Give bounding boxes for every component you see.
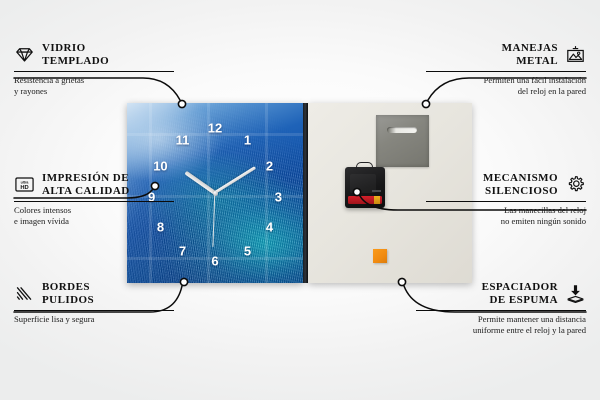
clock-numeral-11: 11 <box>176 133 190 146</box>
clock-second-hand <box>212 193 215 247</box>
polished-edges-icon <box>14 283 35 304</box>
feature-title-line2: SILENCIOSO <box>485 185 558 197</box>
feature-title-line2: DE ESPUMA <box>489 294 558 306</box>
feature-title-line2: TEMPLADO <box>42 55 109 67</box>
feature-desc-line2: e imagen vívida <box>14 216 69 226</box>
svg-text:HD: HD <box>20 186 28 192</box>
feature-divider <box>14 201 174 202</box>
clock-numeral-10: 10 <box>153 160 167 173</box>
clock-numeral-6: 6 <box>211 255 218 268</box>
feature-title-line2: ALTA CALIDAD <box>42 185 130 197</box>
spacer-arrow-icon <box>565 283 586 304</box>
clock-numeral-1: 1 <box>244 133 251 146</box>
feature-title-line1: ESPACIADOR <box>482 281 558 293</box>
clock-minute-hand <box>214 166 257 194</box>
feature-desc-line2: uniforme entre el reloj y la pared <box>473 325 586 335</box>
feature-desc-line1: Permite mantener una distancia <box>478 314 586 324</box>
infographic-canvas: 12 1 2 3 4 5 6 7 8 9 10 11 <box>0 0 600 400</box>
feature-impresion-alta-calidad: ultra HD IMPRESIÓN DE ALTA CALIDAD Color… <box>14 172 174 227</box>
feature-title-line1: VIDRIO <box>42 42 86 54</box>
clock-numeral-3: 3 <box>275 190 282 203</box>
feature-desc-line1: Permiten una fácil instalación <box>484 75 586 85</box>
clock-numeral-7: 7 <box>179 244 186 257</box>
feature-desc-line1: Resistencia a grietas <box>14 75 84 85</box>
feature-title-line2: METAL <box>516 55 558 67</box>
feature-desc-line2: del reloj en la pared <box>518 86 586 96</box>
feature-title-line1: MANEJAS <box>502 42 558 54</box>
metal-hanger <box>376 115 429 167</box>
feature-title-line1: MECANISMO <box>483 172 558 184</box>
feature-divider <box>426 71 586 72</box>
clock-hour-hand <box>184 171 216 195</box>
feature-desc-line2: no emiten ningún sonido <box>501 216 586 226</box>
mechanism-hook <box>356 162 373 169</box>
clock-numeral-4: 4 <box>266 221 273 234</box>
gear-icon <box>565 174 586 195</box>
feature-divider <box>14 310 174 311</box>
ultra-hd-icon: ultra HD <box>14 174 35 195</box>
feature-desc-line1: Colores intensos <box>14 205 71 215</box>
feature-title-line1: BORDES <box>42 281 90 293</box>
feature-title-line2: PULIDOS <box>42 294 94 306</box>
feature-mecanismo-silencioso: MECANISMO SILENCIOSO Las manecillas del … <box>426 172 586 227</box>
feature-desc-line1: Las manecillas del reloj <box>504 205 586 215</box>
clock-numeral-12: 12 <box>208 122 222 135</box>
feature-title-line1: IMPRESIÓN DE <box>42 172 129 184</box>
hanger-keyhole-slot <box>387 127 417 133</box>
feature-desc-line2: y rayones <box>14 86 47 96</box>
svg-text:ultra: ultra <box>21 181 30 185</box>
feature-espaciador-espuma: ESPACIADOR DE ESPUMA Permite mantener un… <box>416 281 586 336</box>
clock-center-cap <box>213 191 218 196</box>
mechanism-marking <box>372 190 381 192</box>
clock-numeral-5: 5 <box>244 244 251 257</box>
feature-manejas-metal: MANEJAS METAL Permiten una fácil instala… <box>426 42 586 97</box>
feature-divider <box>14 71 174 72</box>
feature-divider <box>416 310 586 311</box>
feature-bordes-pulidos: BORDES PULIDOS Superficie lisa y segura <box>14 281 174 325</box>
wall-frame-icon <box>565 44 586 65</box>
diamond-icon <box>14 44 35 65</box>
battery <box>348 196 382 204</box>
feature-vidrio-templado: VIDRIO TEMPLADO Resistencia a grietas y … <box>14 42 174 97</box>
product-image: 12 1 2 3 4 5 6 7 8 9 10 11 <box>127 103 472 283</box>
foam-spacer <box>373 249 387 263</box>
clock-numeral-2: 2 <box>266 160 273 173</box>
quartz-mechanism <box>345 167 385 208</box>
feature-divider <box>426 201 586 202</box>
feature-desc-line1: Superficie lisa y segura <box>14 314 94 324</box>
